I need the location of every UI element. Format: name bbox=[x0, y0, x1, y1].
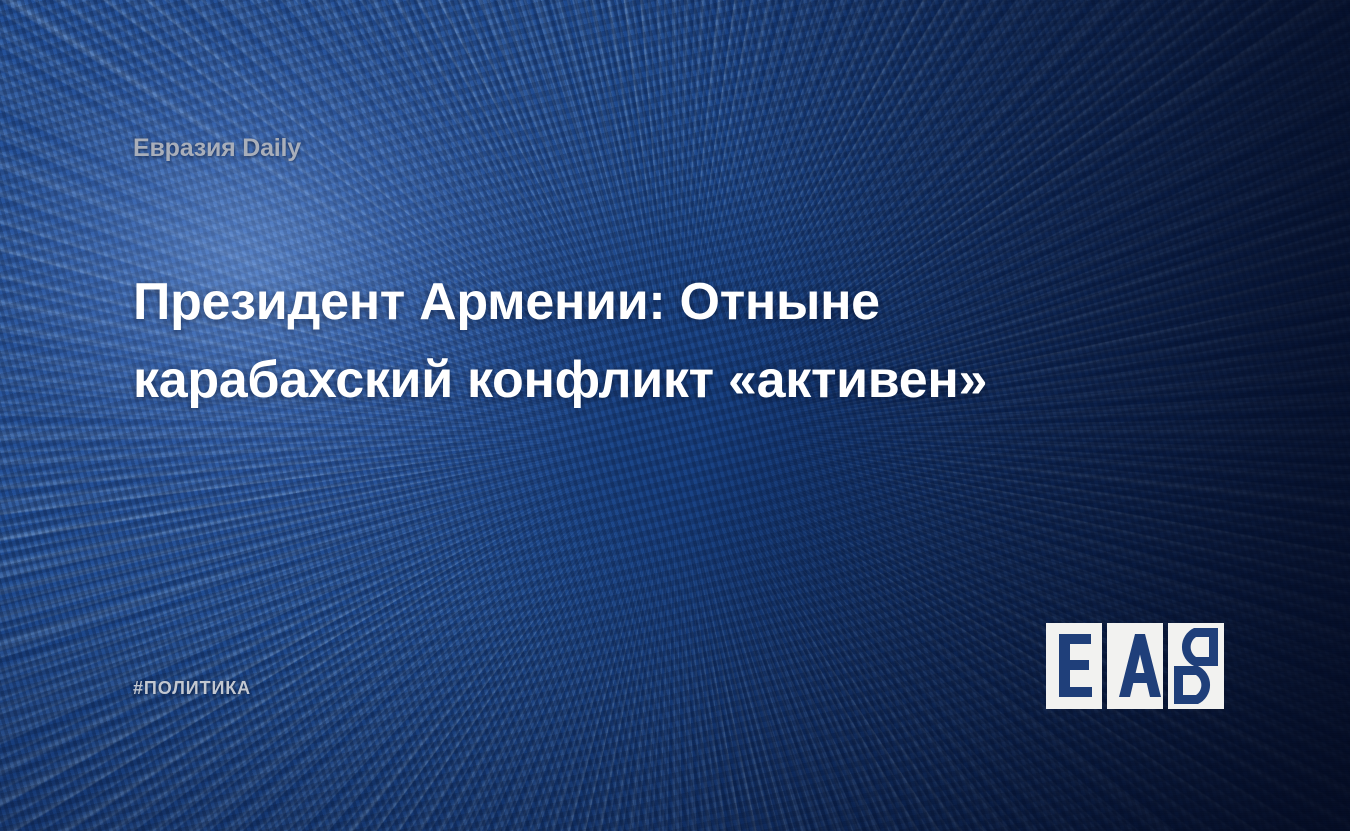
ead-logo-tile-d bbox=[1168, 623, 1224, 709]
news-share-card: Евразия Daily Президент Армении: Отныне … bbox=[0, 0, 1350, 831]
brand-wordmark: Евразия Daily bbox=[133, 136, 301, 161]
ead-logo-svg bbox=[1046, 623, 1224, 709]
page-title: Президент Армении: Отныне карабахский ко… bbox=[133, 263, 1093, 419]
card-content: Евразия Daily Президент Армении: Отныне … bbox=[0, 0, 1350, 831]
ead-logo-tile-a bbox=[1107, 623, 1163, 709]
category-hashtag: #ПОЛИТИКА bbox=[133, 679, 251, 697]
ead-logo-tile-e bbox=[1046, 623, 1102, 709]
ead-logo bbox=[1046, 623, 1224, 709]
